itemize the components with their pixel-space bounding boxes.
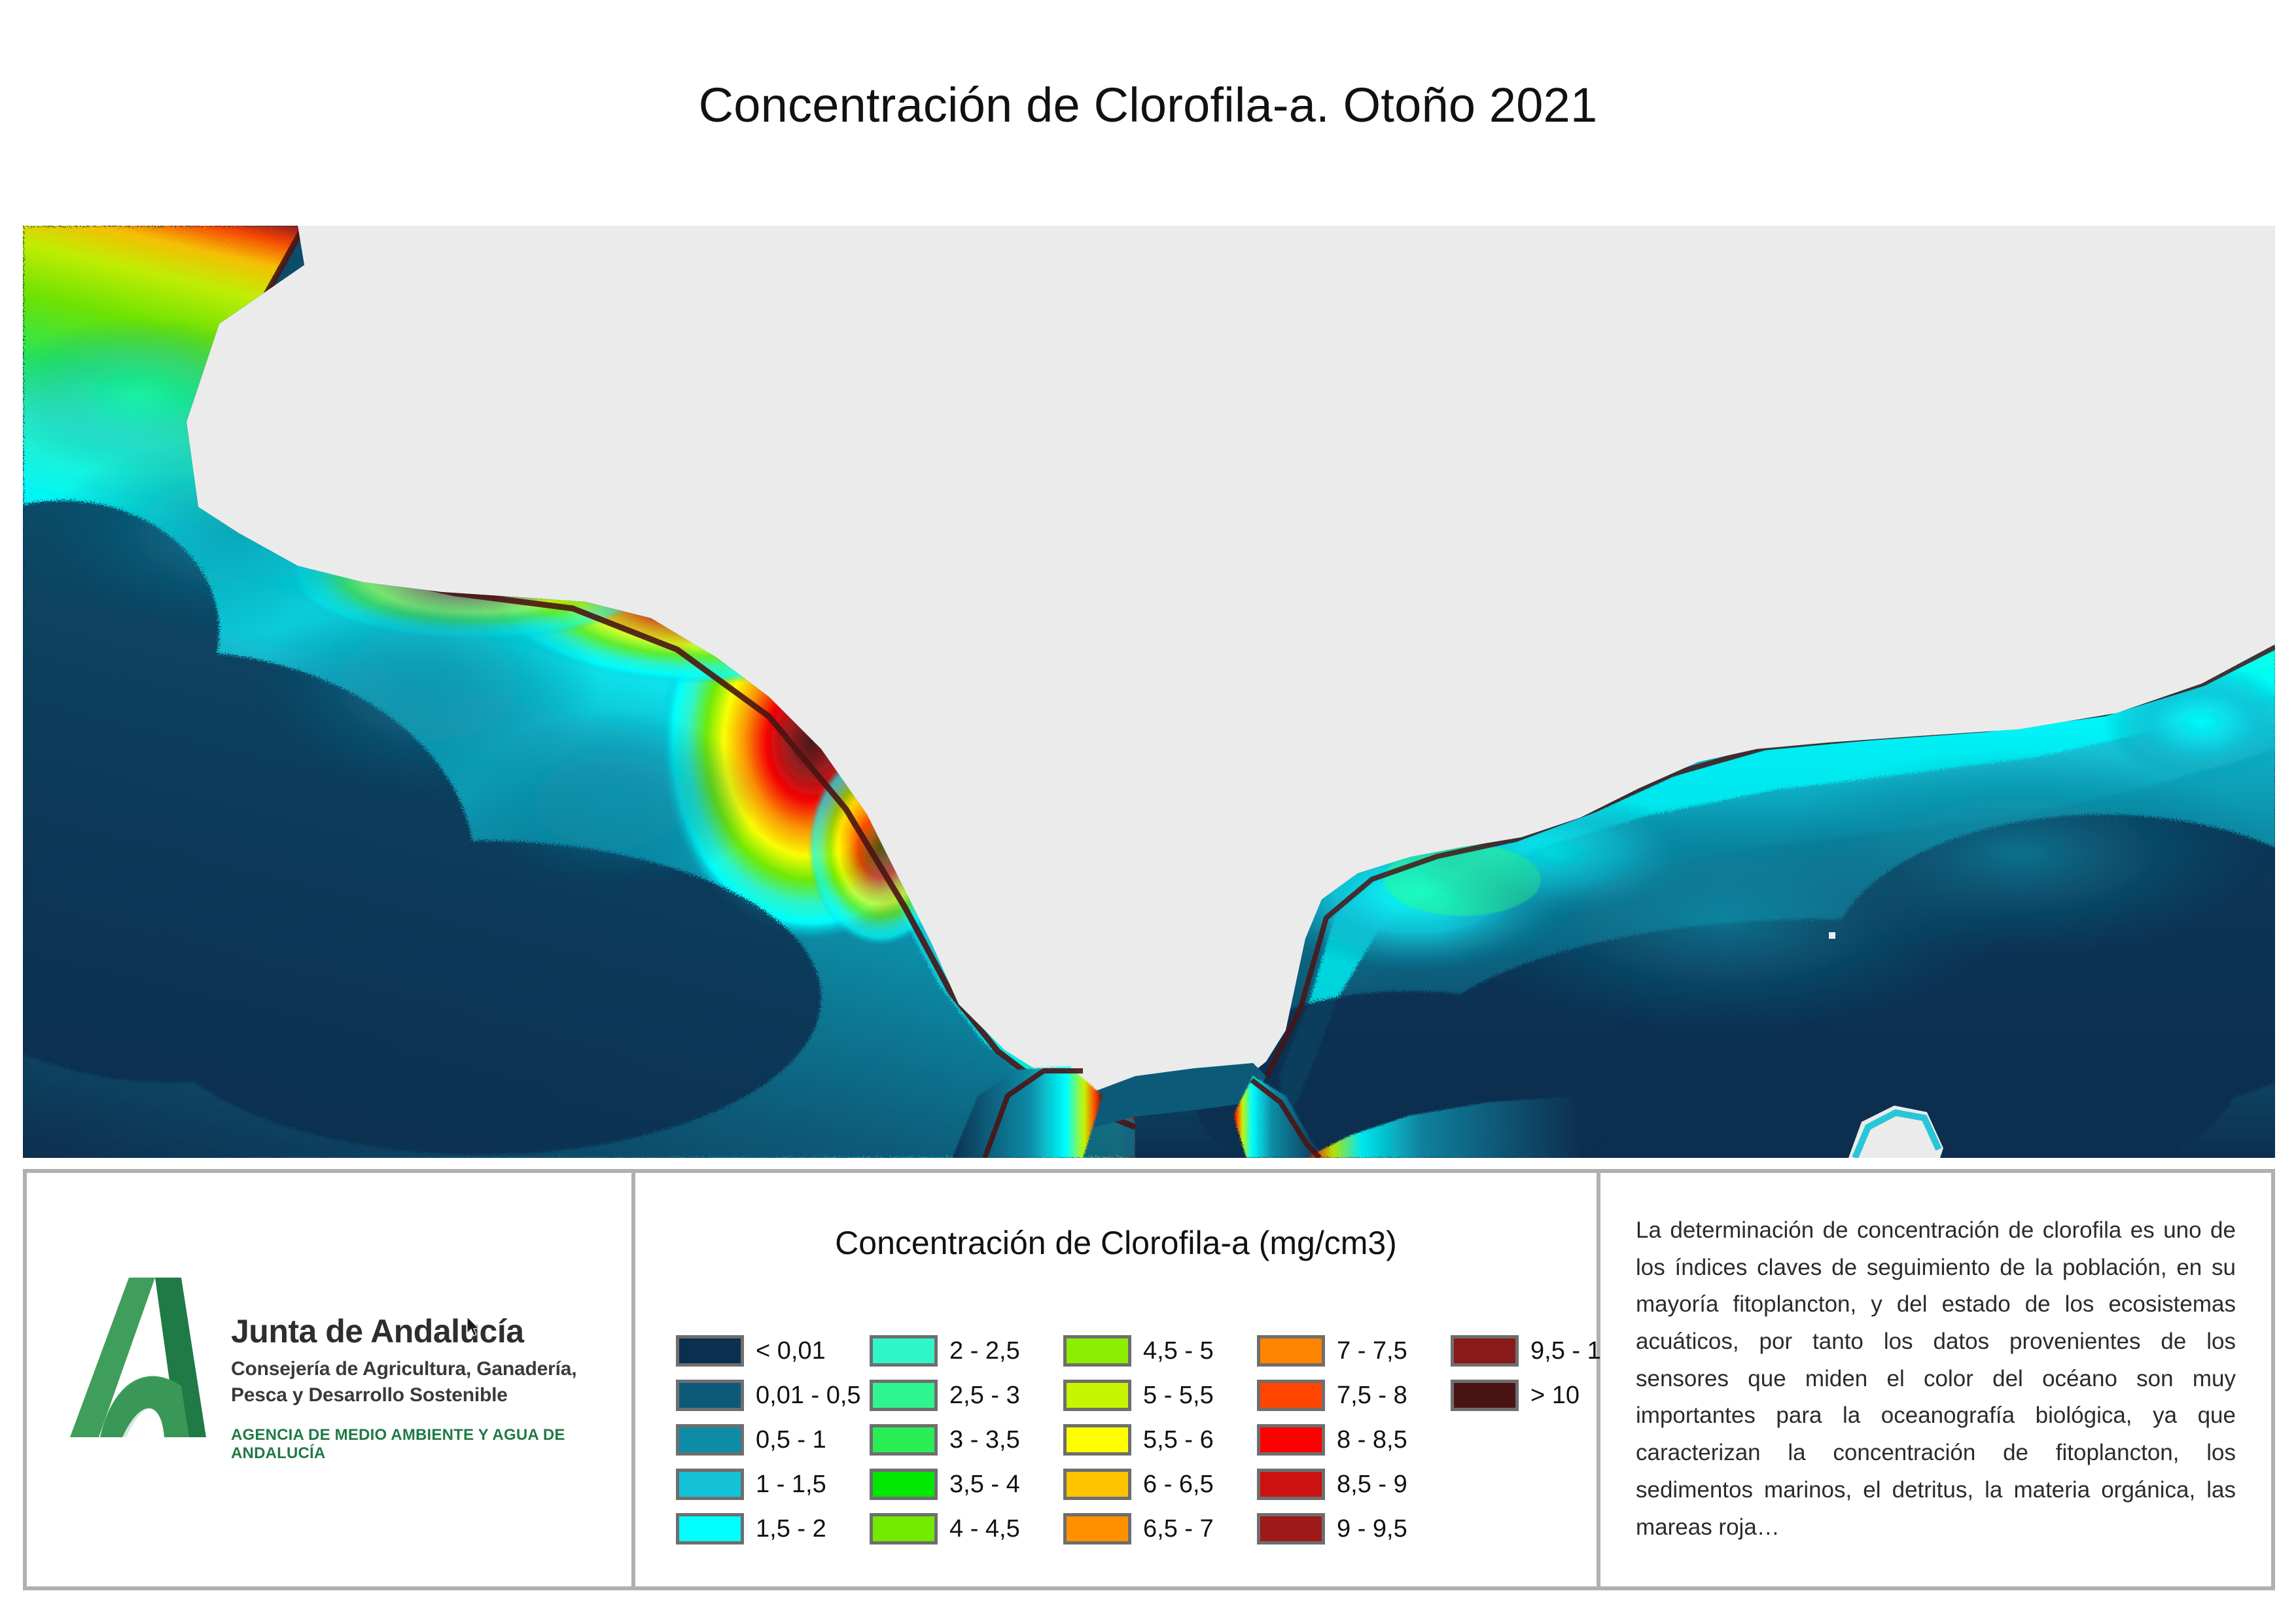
junta-de-andalucia-arch-icon (66, 1274, 214, 1440)
legend-item[interactable]: 9 - 9,5 (1257, 1507, 1451, 1551)
legend-range-label: 5 - 5,5 (1143, 1383, 1214, 1408)
legend-item[interactable]: 1,5 - 2 (676, 1507, 870, 1551)
legend-item[interactable]: 8 - 8,5 (1257, 1418, 1451, 1462)
chlorophyll-map-figure[interactable] (23, 226, 2275, 1158)
legend-item[interactable]: < 0,01 (676, 1329, 870, 1373)
legend-color-swatch (676, 1513, 744, 1544)
logo-organization: Junta de Andalucía (231, 1314, 631, 1349)
legend-color-swatch (676, 1335, 744, 1367)
page-title: Concentración de Clorofila-a. Otoño 2021 (0, 77, 2296, 133)
legend-range-label: 2 - 2,5 (949, 1338, 1020, 1363)
logo-department-line2: Pesca y Desarrollo Sostenible (231, 1383, 631, 1408)
legend-item[interactable]: 2,5 - 3 (870, 1373, 1063, 1418)
legend-color-swatch (1451, 1335, 1519, 1367)
legend-item[interactable]: 6 - 6,5 (1063, 1462, 1257, 1507)
legend-range-label: < 0,01 (756, 1338, 826, 1363)
legend-panel: Concentración de Clorofila-a (mg/cm3) < … (635, 1173, 1600, 1586)
legend-range-label: 0,5 - 1 (756, 1427, 826, 1452)
legend-color-swatch (1063, 1424, 1131, 1456)
legend-range-label: 7,5 - 8 (1337, 1383, 1407, 1408)
legend-item[interactable]: 8,5 - 9 (1257, 1462, 1451, 1507)
legend-item[interactable]: 2 - 2,5 (870, 1329, 1063, 1373)
legend-range-label: 3,5 - 4 (949, 1472, 1020, 1497)
legend-range-label: 1 - 1,5 (756, 1472, 826, 1497)
description-panel: La determinación de concentración de clo… (1600, 1173, 2271, 1586)
legend-range-label: 4,5 - 5 (1143, 1338, 1214, 1363)
legend-color-swatch (1257, 1424, 1325, 1456)
legend-color-swatch (1257, 1380, 1325, 1411)
legend-item[interactable]: 3,5 - 4 (870, 1462, 1063, 1507)
legend-color-swatch (1063, 1513, 1131, 1544)
legend-item[interactable]: 3 - 3,5 (870, 1418, 1063, 1462)
legend-swatch-grid: < 0,010,01 - 0,50,5 - 11 - 1,51,5 - 22 -… (676, 1329, 1644, 1551)
legend-color-swatch (1257, 1513, 1325, 1544)
legend-color-swatch (1257, 1469, 1325, 1500)
legend-range-label: 6 - 6,5 (1143, 1472, 1214, 1497)
legend-color-swatch (676, 1380, 744, 1411)
legend-color-swatch (676, 1424, 744, 1456)
legend-item[interactable]: 5,5 - 6 (1063, 1418, 1257, 1462)
legend-range-label: 9 - 9,5 (1337, 1516, 1407, 1541)
legend-range-label: 8 - 8,5 (1337, 1427, 1407, 1452)
legend-item[interactable]: 4,5 - 5 (1063, 1329, 1257, 1373)
legend-item[interactable]: 0,5 - 1 (676, 1418, 870, 1462)
legend-color-swatch (870, 1424, 938, 1456)
logo-text-block: Junta de Andalucía Consejería de Agricul… (231, 1270, 631, 1463)
legend-range-label: 5,5 - 6 (1143, 1427, 1214, 1452)
legend-item[interactable]: 1 - 1,5 (676, 1462, 870, 1507)
legend-item[interactable]: 4 - 4,5 (870, 1507, 1063, 1551)
logo-agency: AGENCIA DE MEDIO AMBIENTE Y AGUA DE ANDA… (231, 1426, 631, 1463)
legend-color-swatch (676, 1469, 744, 1500)
logo-department-line1: Consejería de Agricultura, Ganadería, (231, 1357, 631, 1382)
chlorophyll-raster (23, 226, 2275, 1158)
legend-range-label: 6,5 - 7 (1143, 1516, 1214, 1541)
legend-range-label: 7 - 7,5 (1337, 1338, 1407, 1363)
legend-color-swatch (1063, 1469, 1131, 1500)
logo-panel: Junta de Andalucía Consejería de Agricul… (27, 1173, 635, 1586)
legend-range-label: 0,01 - 0,5 (756, 1383, 861, 1408)
legend-item[interactable]: 0,01 - 0,5 (676, 1373, 870, 1418)
legend-color-swatch (870, 1469, 938, 1500)
legend-range-label: 3 - 3,5 (949, 1427, 1020, 1452)
legend-color-swatch (870, 1513, 938, 1544)
legend-range-label: 2,5 - 3 (949, 1383, 1020, 1408)
legend-item[interactable]: 7,5 - 8 (1257, 1373, 1451, 1418)
map-footer-bar: Junta de Andalucía Consejería de Agricul… (23, 1169, 2275, 1590)
legend-color-swatch (870, 1380, 938, 1411)
description-text: La determinación de concentración de clo… (1636, 1212, 2236, 1546)
legend-range-label: > 10 (1530, 1383, 1580, 1408)
legend-color-swatch (1257, 1335, 1325, 1367)
legend-range-label: 1,5 - 2 (756, 1516, 826, 1541)
legend-color-swatch (870, 1335, 938, 1367)
junta-logo-block: Junta de Andalucía Consejería de Agricul… (66, 1270, 631, 1463)
legend-color-swatch (1063, 1380, 1131, 1411)
legend-title: Concentración de Clorofila-a (mg/cm3) (635, 1224, 1597, 1262)
legend-item[interactable]: 7 - 7,5 (1257, 1329, 1451, 1373)
legend-range-label: 4 - 4,5 (949, 1516, 1020, 1541)
legend-item[interactable]: 5 - 5,5 (1063, 1373, 1257, 1418)
legend-range-label: 8,5 - 9 (1337, 1472, 1407, 1497)
legend-color-swatch (1451, 1380, 1519, 1411)
legend-item[interactable]: 6,5 - 7 (1063, 1507, 1257, 1551)
legend-color-swatch (1063, 1335, 1131, 1367)
